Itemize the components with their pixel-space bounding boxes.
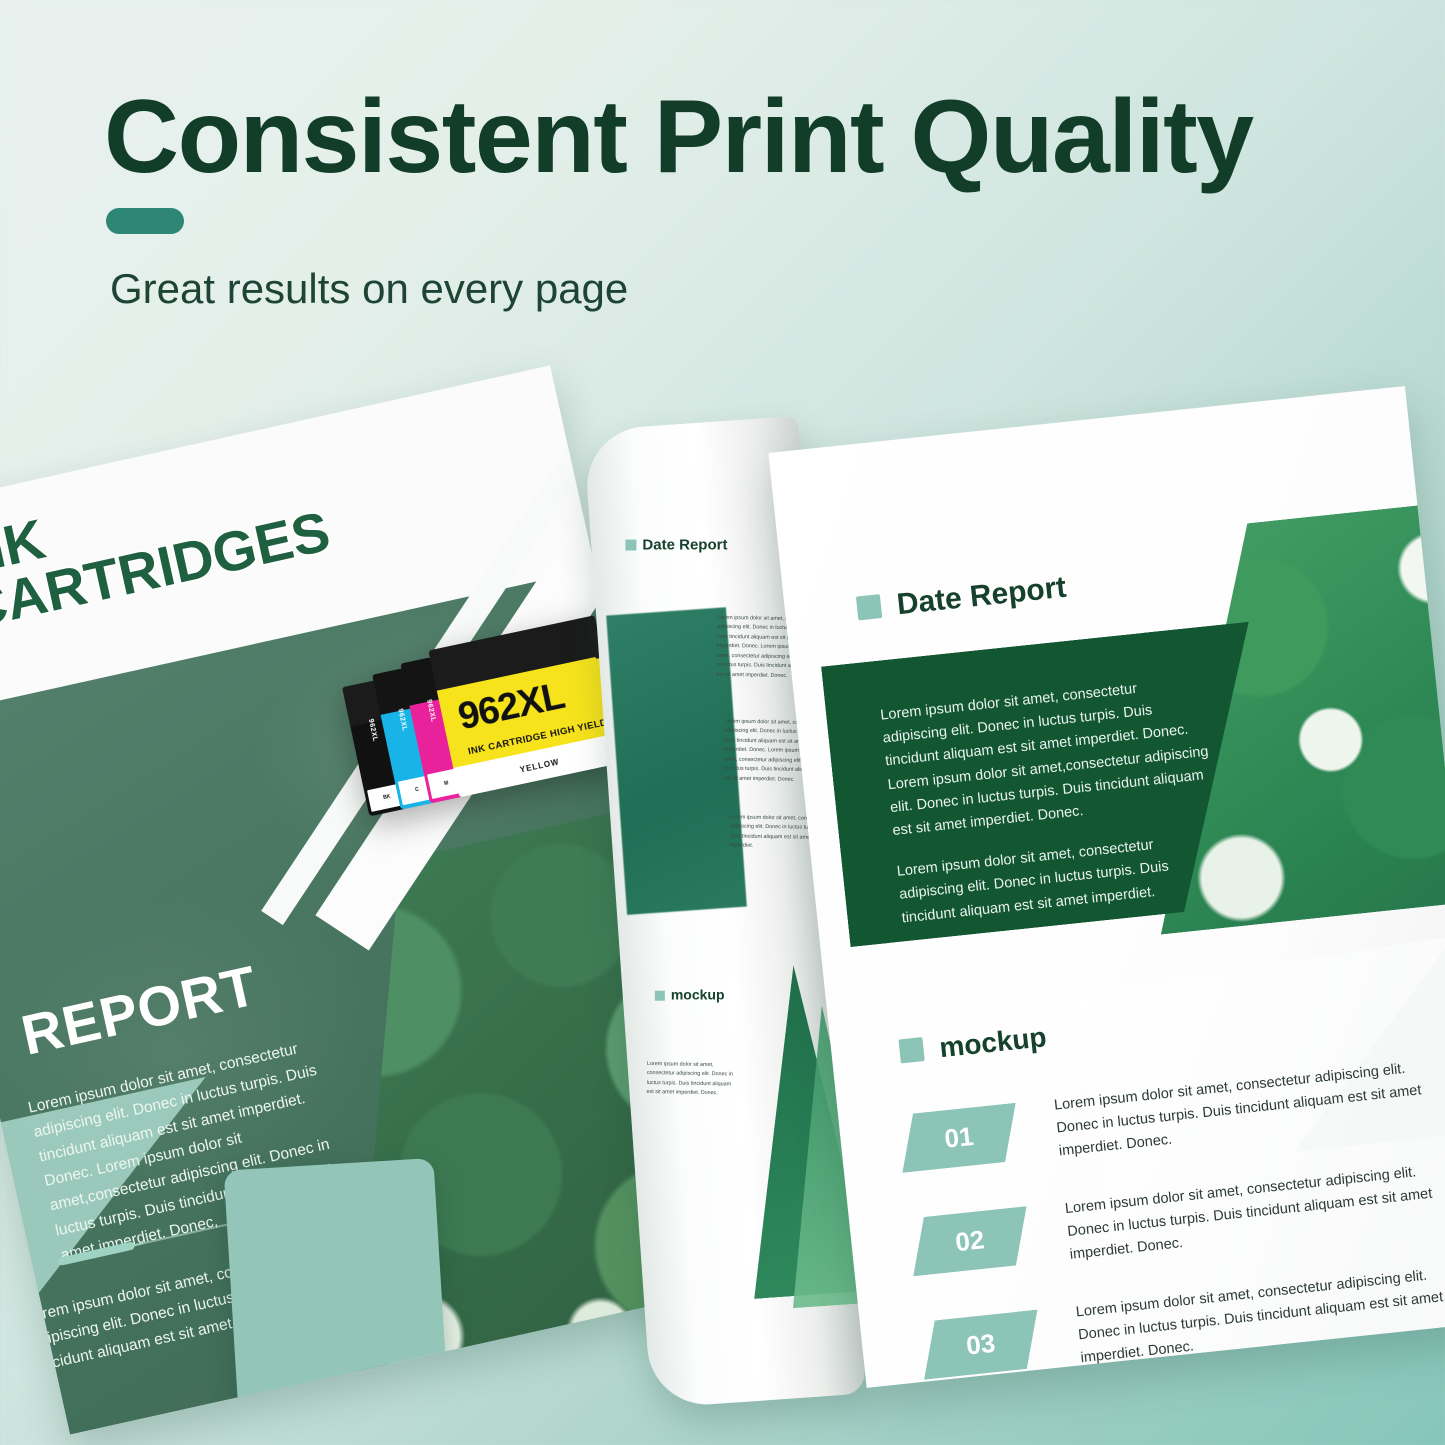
report-heading: REPORT xyxy=(16,952,264,1067)
mockup-number-badge: 02 xyxy=(907,1206,1032,1276)
curl-heading-text: Date Report xyxy=(642,537,727,554)
green-panel-paragraph-2: Lorem ipsum dolor sit amet, consectetur … xyxy=(896,832,1180,930)
curl-date-report-heading: Date Report xyxy=(625,537,727,554)
cartridge-color-code-cyan: C xyxy=(415,787,420,794)
page-subtitle: Great results on every page xyxy=(110,265,628,313)
right-brochure-main-page: Date Report Lorem ipsum dolor sit amet, … xyxy=(768,386,1445,1388)
mockup-number-badge: 01 xyxy=(896,1103,1021,1173)
cartridge-label-cyan: 962XL xyxy=(396,708,408,732)
right-brochure: Date Report Lorem ipsum dolor sit amet, … xyxy=(560,339,1445,1431)
cartridge-color-code-black: BK xyxy=(383,794,391,801)
date-report-heading: Date Report xyxy=(855,571,1067,627)
green-panel-paragraph-1: Lorem ipsum dolor sit amet, consectetur … xyxy=(879,671,1216,843)
curl-mockup-text: mockup xyxy=(671,987,725,1003)
page-title: Consistent Print Quality xyxy=(104,78,1253,197)
cartridge-label-magenta: 962XL xyxy=(425,698,437,722)
mockup-number-01: 01 xyxy=(943,1121,975,1155)
mockup-number-badge: 03 xyxy=(918,1310,1043,1380)
accent-pill-divider xyxy=(106,208,184,234)
mockup-heading-text: mockup xyxy=(938,1021,1048,1063)
mockup-number-03: 03 xyxy=(965,1328,997,1362)
teal-card-accent xyxy=(224,1158,454,1435)
date-report-heading-text: Date Report xyxy=(895,571,1068,622)
curl-column-4: Lorem ipsum dolor sit amet, consectetur … xyxy=(646,1060,737,1099)
cartridge-color-name: YELLOW xyxy=(519,757,560,774)
square-bullet-icon xyxy=(856,594,882,620)
mockup-heading: mockup xyxy=(898,1021,1048,1068)
cartridge-label-black: 962XL xyxy=(367,718,379,742)
square-bullet-icon xyxy=(655,991,665,1001)
square-bullet-icon xyxy=(625,540,636,551)
square-bullet-icon xyxy=(898,1037,924,1063)
mockup-number-02: 02 xyxy=(954,1224,986,1258)
cartridge-color-code-magenta: M xyxy=(444,780,449,787)
cartridge-cap xyxy=(428,615,603,690)
curl-mockup-heading: mockup xyxy=(655,987,725,1003)
